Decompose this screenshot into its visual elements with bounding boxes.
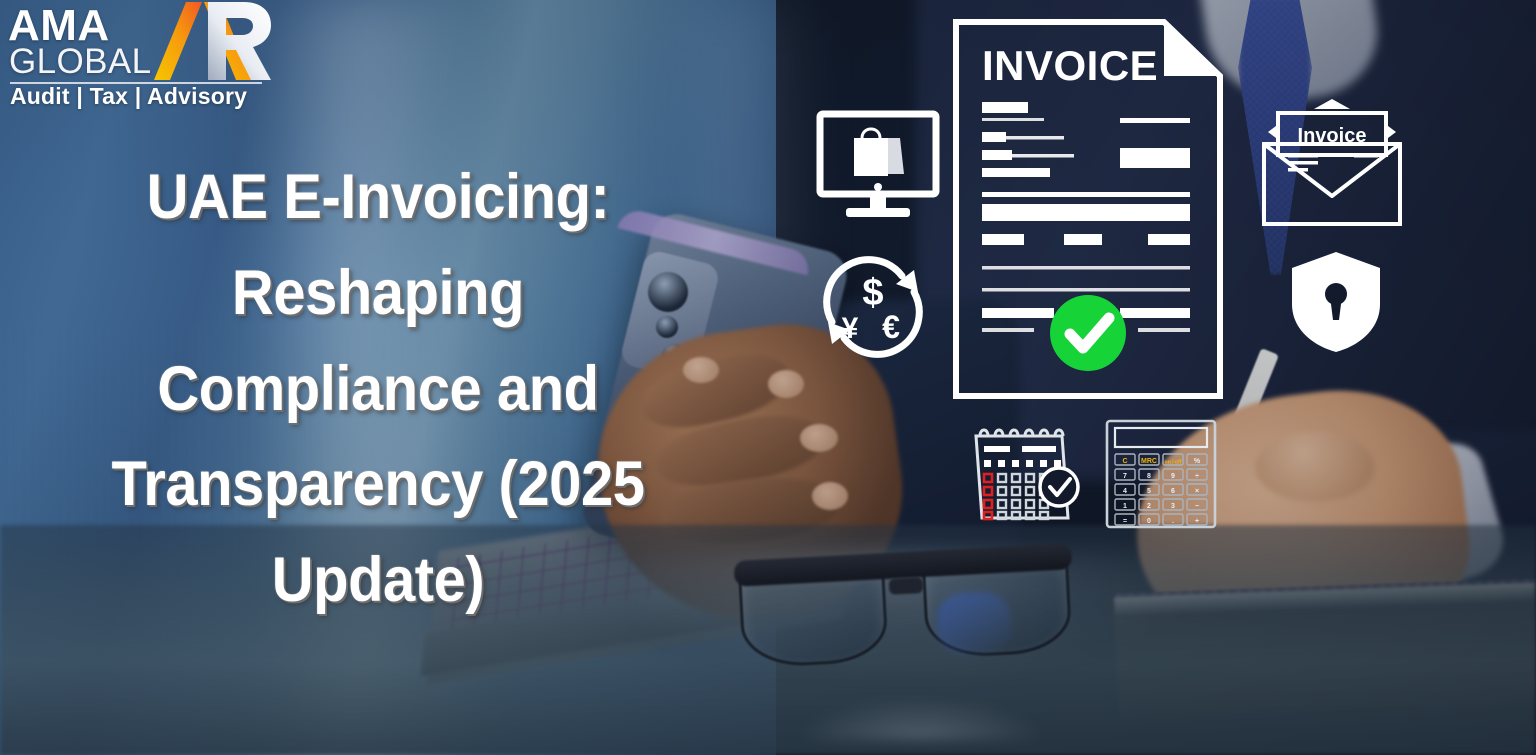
invoice-title-text: INVOICE [982,42,1158,89]
photo-eyeglass-bridge [889,577,924,595]
shield-lock-icon [1288,250,1384,354]
photo-fingernail [812,482,848,510]
svg-text:4: 4 [1123,488,1127,495]
calendar-check-icon [962,424,1084,528]
svg-text:0: 0 [1147,518,1151,525]
page-title-line: Update) [38,533,719,629]
arrow-left-icon [1268,126,1276,138]
svg-text:7: 7 [1123,473,1127,480]
calendar-marked-days [984,474,992,519]
svg-text:÷: ÷ [1195,473,1199,480]
svg-text:=: = [1123,518,1127,525]
calculator-icon: C MRC on / off % 789÷ 456× 123− =0.+ [1104,418,1218,530]
svg-text:5: 5 [1147,488,1151,495]
currency-symbol-euro: € [882,309,900,345]
brand-monogram-ar-icon [152,0,272,82]
arrow-right-icon [1388,126,1396,138]
currency-exchange-icon: $ ¥ € [818,252,928,362]
monitor-shopping-bag-icon [812,108,944,220]
page-title-line: Compliance and [38,342,719,438]
svg-text:2: 2 [1147,503,1151,510]
brand-logo[interactable]: AMA GLOBAL Audit | Tax | Advisory [4,2,272,106]
envelope-invoice-icon: Invoice [1246,96,1418,230]
currency-symbol-yen: ¥ [842,312,859,345]
svg-text:+: + [1195,518,1199,525]
svg-text:C: C [1122,458,1127,465]
brand-name-secondary: GLOBAL [9,44,151,79]
brand-tagline: Audit | Tax | Advisory [10,85,247,108]
photo-fingernail [800,424,838,452]
svg-text:.: . [1172,518,1174,525]
svg-text:1: 1 [1123,503,1127,510]
svg-text:6: 6 [1171,488,1175,495]
photo-fingernail [768,370,804,398]
svg-text:9: 9 [1171,473,1175,480]
invoice-approved-check-icon [1050,295,1126,371]
page-title: UAE E-Invoicing: Reshaping Compliance an… [38,150,719,629]
svg-text:3: 3 [1171,503,1175,510]
invoice-document-icon: INVOICE [952,18,1224,400]
banner-canvas: AMA GLOBAL Audit | Tax | Advisory [0,0,1536,755]
svg-text:−: − [1195,503,1199,510]
svg-text:×: × [1195,488,1199,495]
svg-text:MRC: MRC [1141,458,1157,465]
page-title-line: Reshaping [38,246,719,342]
currency-symbol-dollar: $ [862,272,883,314]
svg-text:%: % [1194,458,1201,465]
calculator-display [1115,428,1207,447]
svg-text:on / off: on / off [1165,460,1182,466]
photo-eyeglass-glare [935,591,1012,657]
page-title-line: Transparency (2025 [38,437,719,533]
svg-text:8: 8 [1147,473,1151,480]
photo-knuckle [1255,432,1375,502]
photo-eyeglasses [737,531,1073,678]
page-title-line: UAE E-Invoicing: [38,150,719,246]
